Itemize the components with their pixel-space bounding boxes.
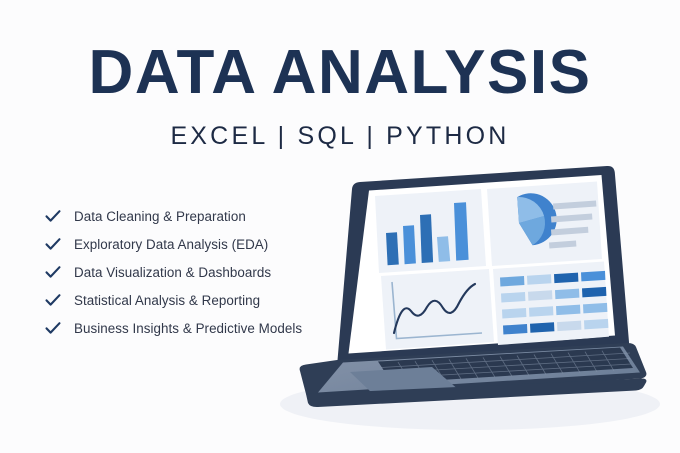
- bar-1: [386, 232, 399, 265]
- table-cell: [528, 290, 552, 301]
- feature-list: Data Cleaning & Preparation Exploratory …: [44, 203, 344, 343]
- data-table-panel: [493, 262, 609, 346]
- bar-chart-panel: [375, 189, 486, 273]
- list-item: Exploratory Data Analysis (EDA): [44, 231, 344, 257]
- bar-2: [403, 225, 416, 264]
- list-item: Business Insights & Predictive Models: [44, 315, 344, 341]
- table-cell: [584, 319, 608, 330]
- list-item-label: Business Insights & Predictive Models: [74, 321, 302, 336]
- table-cell: [502, 308, 526, 319]
- table-cell: [581, 271, 605, 282]
- list-item: Data Cleaning & Preparation: [44, 203, 344, 229]
- check-icon: [44, 319, 62, 337]
- bar-4: [437, 236, 450, 262]
- line-chart-panel-bg: [381, 269, 494, 350]
- table-cell: [555, 289, 579, 300]
- laptop-screen: [337, 166, 629, 368]
- table-cell: [582, 287, 606, 298]
- table-cell: [500, 276, 524, 287]
- line-chart-panel: [381, 269, 494, 350]
- table-cell: [527, 274, 551, 285]
- table-cell: [501, 292, 525, 303]
- list-item-label: Exploratory Data Analysis (EDA): [74, 237, 268, 252]
- check-icon: [44, 207, 62, 225]
- table-cell: [529, 306, 553, 317]
- table-cell: [557, 321, 581, 332]
- poster-canvas: DATA ANALYSIS EXCEL | SQL | PYTHON: [0, 0, 680, 453]
- check-icon: [44, 235, 62, 253]
- list-item: Data Visualization & Dashboards: [44, 259, 344, 285]
- check-icon: [44, 291, 62, 309]
- table-cell: [583, 303, 607, 314]
- table-cell: [556, 305, 580, 316]
- bar-3: [420, 214, 433, 263]
- list-item-label: Data Cleaning & Preparation: [74, 209, 246, 224]
- check-icon: [44, 263, 62, 281]
- table-cell: [554, 273, 578, 284]
- list-item-label: Statistical Analysis & Reporting: [74, 293, 260, 308]
- dashboard: [375, 182, 609, 350]
- list-item: Statistical Analysis & Reporting: [44, 287, 344, 313]
- list-item-label: Data Visualization & Dashboards: [74, 265, 271, 280]
- pie-chart-panel: [487, 182, 602, 267]
- table-cell: [530, 322, 554, 333]
- table-cell: [503, 324, 527, 335]
